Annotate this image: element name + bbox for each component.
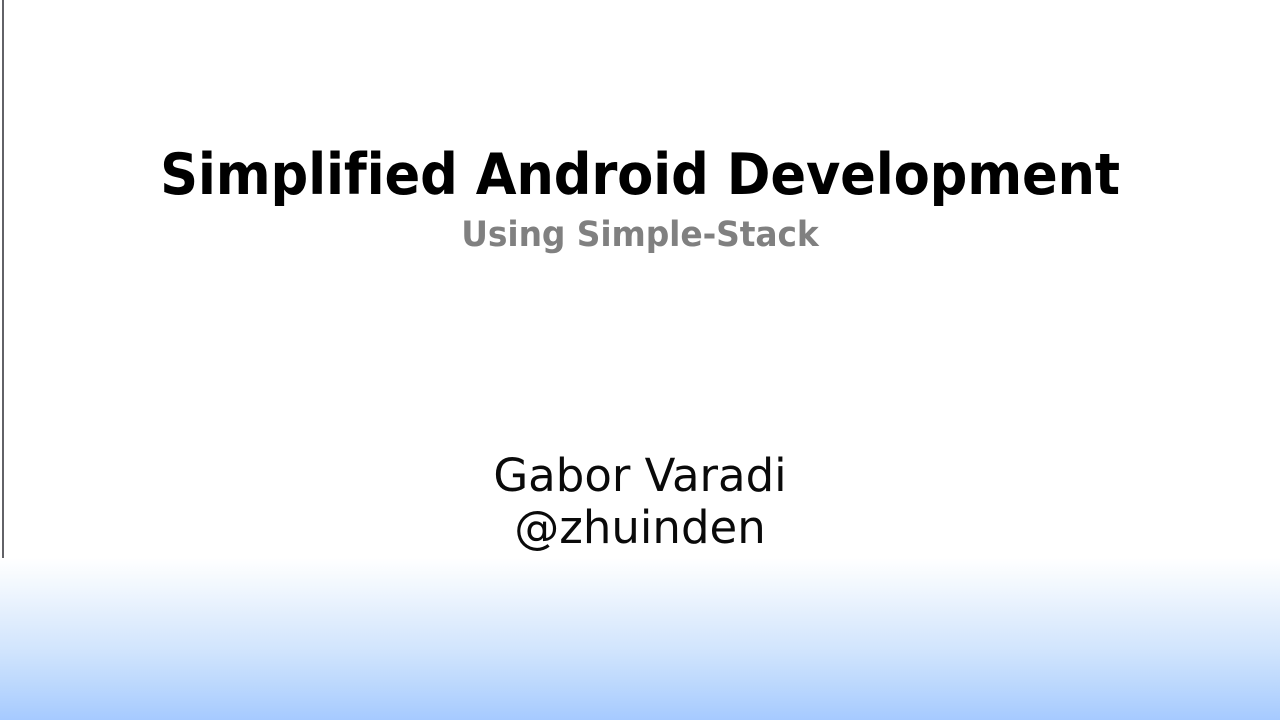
page-title: Simplified Android Development — [48, 145, 1232, 205]
page-subtitle: Using Simple-Stack — [38, 216, 1241, 255]
author-handle: @zhuinden — [0, 502, 1280, 554]
title-block: Simplified Android Development Using Sim… — [0, 145, 1280, 255]
bottom-gradient-band — [0, 558, 1280, 720]
author-block: Gabor Varadi @zhuinden — [0, 450, 1280, 554]
author-name: Gabor Varadi — [0, 450, 1280, 502]
left-edge-rule — [2, 0, 4, 720]
title-slide: Simplified Android Development Using Sim… — [0, 0, 1280, 720]
